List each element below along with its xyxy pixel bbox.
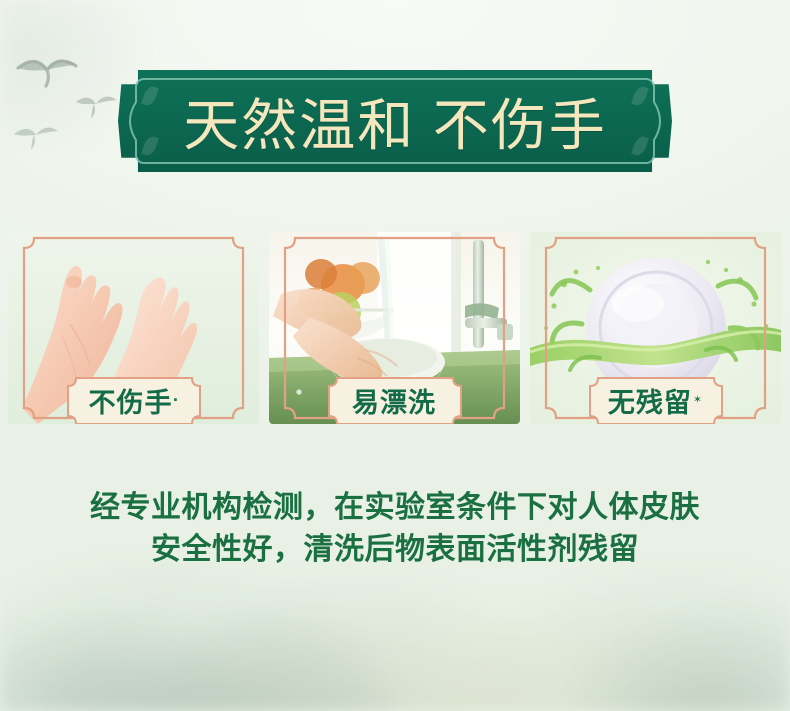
feature-card-row: 不伤手▪ [8, 232, 782, 424]
footnote-line-2: 安全性好，清洗后物表面活性剂残留 [0, 529, 790, 571]
card-label-text: 无残留 [608, 381, 692, 420]
headline-banner: 天然温和 不伤手 [118, 70, 672, 172]
footnote-line-1: 经专业机构检测，在实验室条件下对人体皮肤 [0, 487, 790, 529]
banner-title: 天然温和 不伤手 [118, 70, 672, 172]
card-label-text: 易漂洗 [352, 381, 436, 420]
feature-card-easy-rinse[interactable]: 易漂洗 [269, 232, 520, 424]
card-label-plaque: 易漂洗 [319, 376, 471, 424]
card-label-superscript: ✶ [693, 395, 703, 406]
card-label-superscript: ▪ [174, 395, 179, 406]
footnote-text: 经专业机构检测，在实验室条件下对人体皮肤 安全性好，清洗后物表面活性剂残留 [0, 487, 790, 571]
card-label-plaque: 无残留✶ [580, 376, 732, 424]
feature-card-no-residue[interactable]: 无残留✶ [530, 232, 781, 424]
card-label-plaque: 不伤手▪ [58, 376, 210, 424]
feature-card-no-hand-harm[interactable]: 不伤手▪ [8, 232, 259, 424]
card-label-text: 不伤手 [89, 381, 173, 420]
